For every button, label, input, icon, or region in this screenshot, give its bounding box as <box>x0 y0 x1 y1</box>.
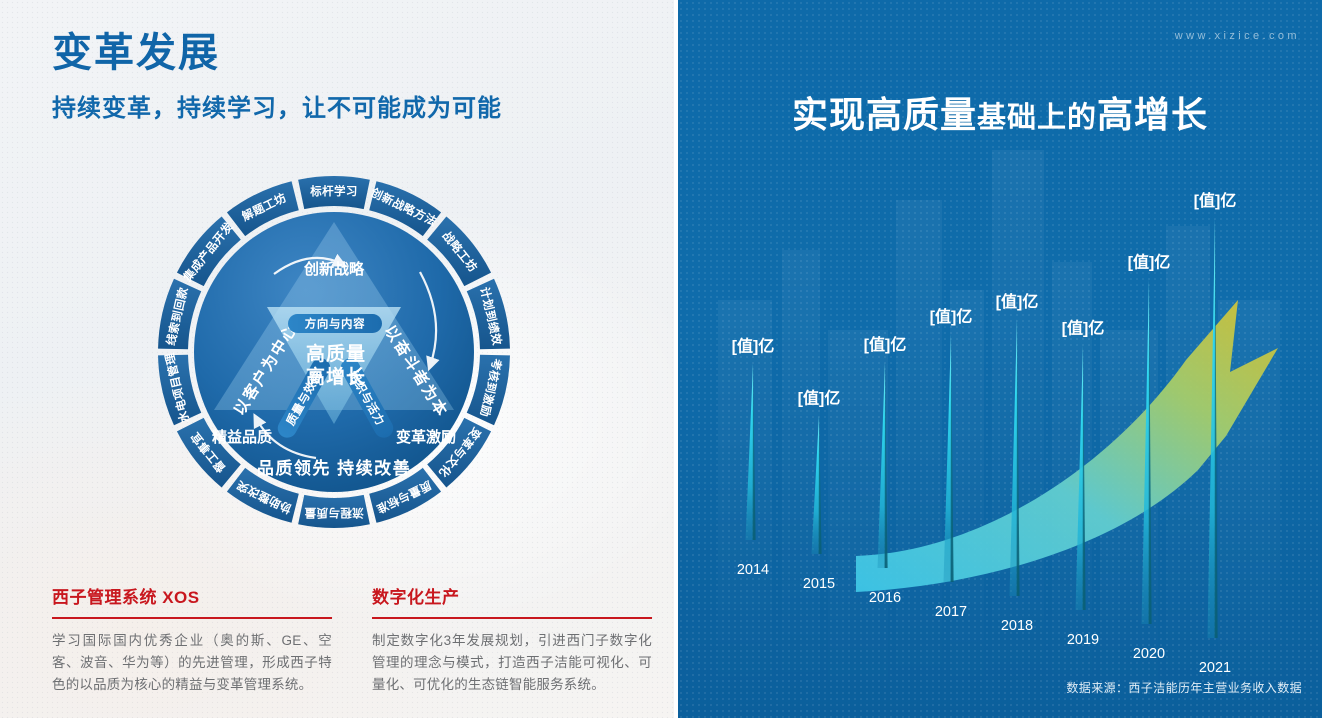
year-label-2020: 2020 <box>1133 646 1165 662</box>
bottom-columns: 西子管理系统 XOS 学习国际国内优秀企业（奥的斯、GE、空客、波音、华为等）的… <box>52 583 652 696</box>
value-label-2014: [值]亿 <box>732 337 775 356</box>
title-part-2: 基础上的 <box>977 102 1097 134</box>
page-subtitle: 持续变革，持续学习，让不可能成为可能 <box>52 88 502 123</box>
right-panel: www.xizice.com 实现高质量基础上的高增长 <box>678 0 1322 718</box>
value-label-2021: [值]亿 <box>1194 191 1237 210</box>
year-label-2017: 2017 <box>935 604 967 620</box>
triangle-side-bottom: 品质领先 持续改善 <box>257 458 411 478</box>
column-heading: 数字化生产 <box>372 583 652 608</box>
xos-circle-diagram: 以客户为中心 以奋斗者为本 创新战略 精益品质 变革激励 方向与内容 质量与效益… <box>124 152 544 552</box>
spike-bar-shadow <box>753 364 756 540</box>
page-title: 变革发展 <box>52 30 502 76</box>
spike-group <box>746 218 1218 638</box>
title-part-1: 高质量 <box>866 94 977 135</box>
left-header: 变革发展 持续变革，持续学习，让不可能成为可能 <box>52 30 502 123</box>
source-note: 数据来源：西子洁能历年主营业务收入数据 <box>1066 679 1302 696</box>
ring-label-7: 流程与质量 <box>304 506 364 520</box>
value-label-2016: [值]亿 <box>864 335 907 354</box>
title-part-0: 实现 <box>792 94 866 135</box>
value-label-2015: [值]亿 <box>798 388 841 407</box>
spike-bar-shadow <box>819 415 822 554</box>
vertex-innovation: 创新战略 <box>303 260 365 278</box>
year-label-2015: 2015 <box>803 576 835 592</box>
title-part-3: 高增长 <box>1097 94 1208 135</box>
value-label-2019: [值]亿 <box>1062 318 1105 337</box>
core-label-line2: 高增长 <box>306 365 366 388</box>
column-divider <box>372 617 652 619</box>
column-digital-production: 数字化生产 制定数字化3年发展规划，引进西门子数字化管理的理念与模式，打造西子洁… <box>372 583 652 696</box>
column-heading: 西子管理系统 XOS <box>52 583 332 608</box>
year-label-2019: 2019 <box>1067 632 1099 648</box>
year-label-group: 20142015201620172018201920202021 <box>737 562 1231 676</box>
chart-title: 实现高质量基础上的高增长 <box>678 86 1322 138</box>
pill-direction: 方向与内容 <box>288 314 382 333</box>
ring-label-0: 标杆学习 <box>309 184 358 198</box>
column-body: 制定数字化3年发展规划，引进西门子数字化管理的理念与模式，打造西子洁能可视化、可… <box>372 630 652 696</box>
year-label-2014: 2014 <box>737 562 769 578</box>
year-label-2021: 2021 <box>1199 660 1231 676</box>
vertex-quality: 精益品质 <box>212 428 272 446</box>
left-panel: 变革发展 持续变革，持续学习，让不可能成为可能 <box>0 0 678 718</box>
column-xos: 西子管理系统 XOS 学习国际国内优秀企业（奥的斯、GE、空客、波音、华为等）的… <box>52 583 332 696</box>
spike-bar-shadow <box>1017 319 1020 596</box>
svg-text:方向与内容: 方向与内容 <box>305 317 366 331</box>
core-label-line1: 高质量 <box>306 342 366 365</box>
watermark-url: www.xizice.com <box>1175 30 1300 42</box>
value-label-2020: [值]亿 <box>1128 253 1171 272</box>
column-divider <box>52 617 332 619</box>
year-label-2018: 2018 <box>1001 618 1033 634</box>
year-label-2016: 2016 <box>869 590 901 606</box>
spike-bar-shadow <box>951 334 954 582</box>
spike-bar-shadow <box>885 362 888 568</box>
value-label-2017: [值]亿 <box>930 307 973 326</box>
value-label-2018: [值]亿 <box>996 292 1039 311</box>
vertex-reform: 变革激励 <box>396 428 456 446</box>
column-body: 学习国际国内优秀企业（奥的斯、GE、空客、波音、华为等）的先进管理，形成西子特色… <box>52 630 332 696</box>
value-label-group: [值]亿[值]亿[值]亿[值]亿[值]亿[值]亿[值]亿[值]亿 <box>732 191 1237 407</box>
